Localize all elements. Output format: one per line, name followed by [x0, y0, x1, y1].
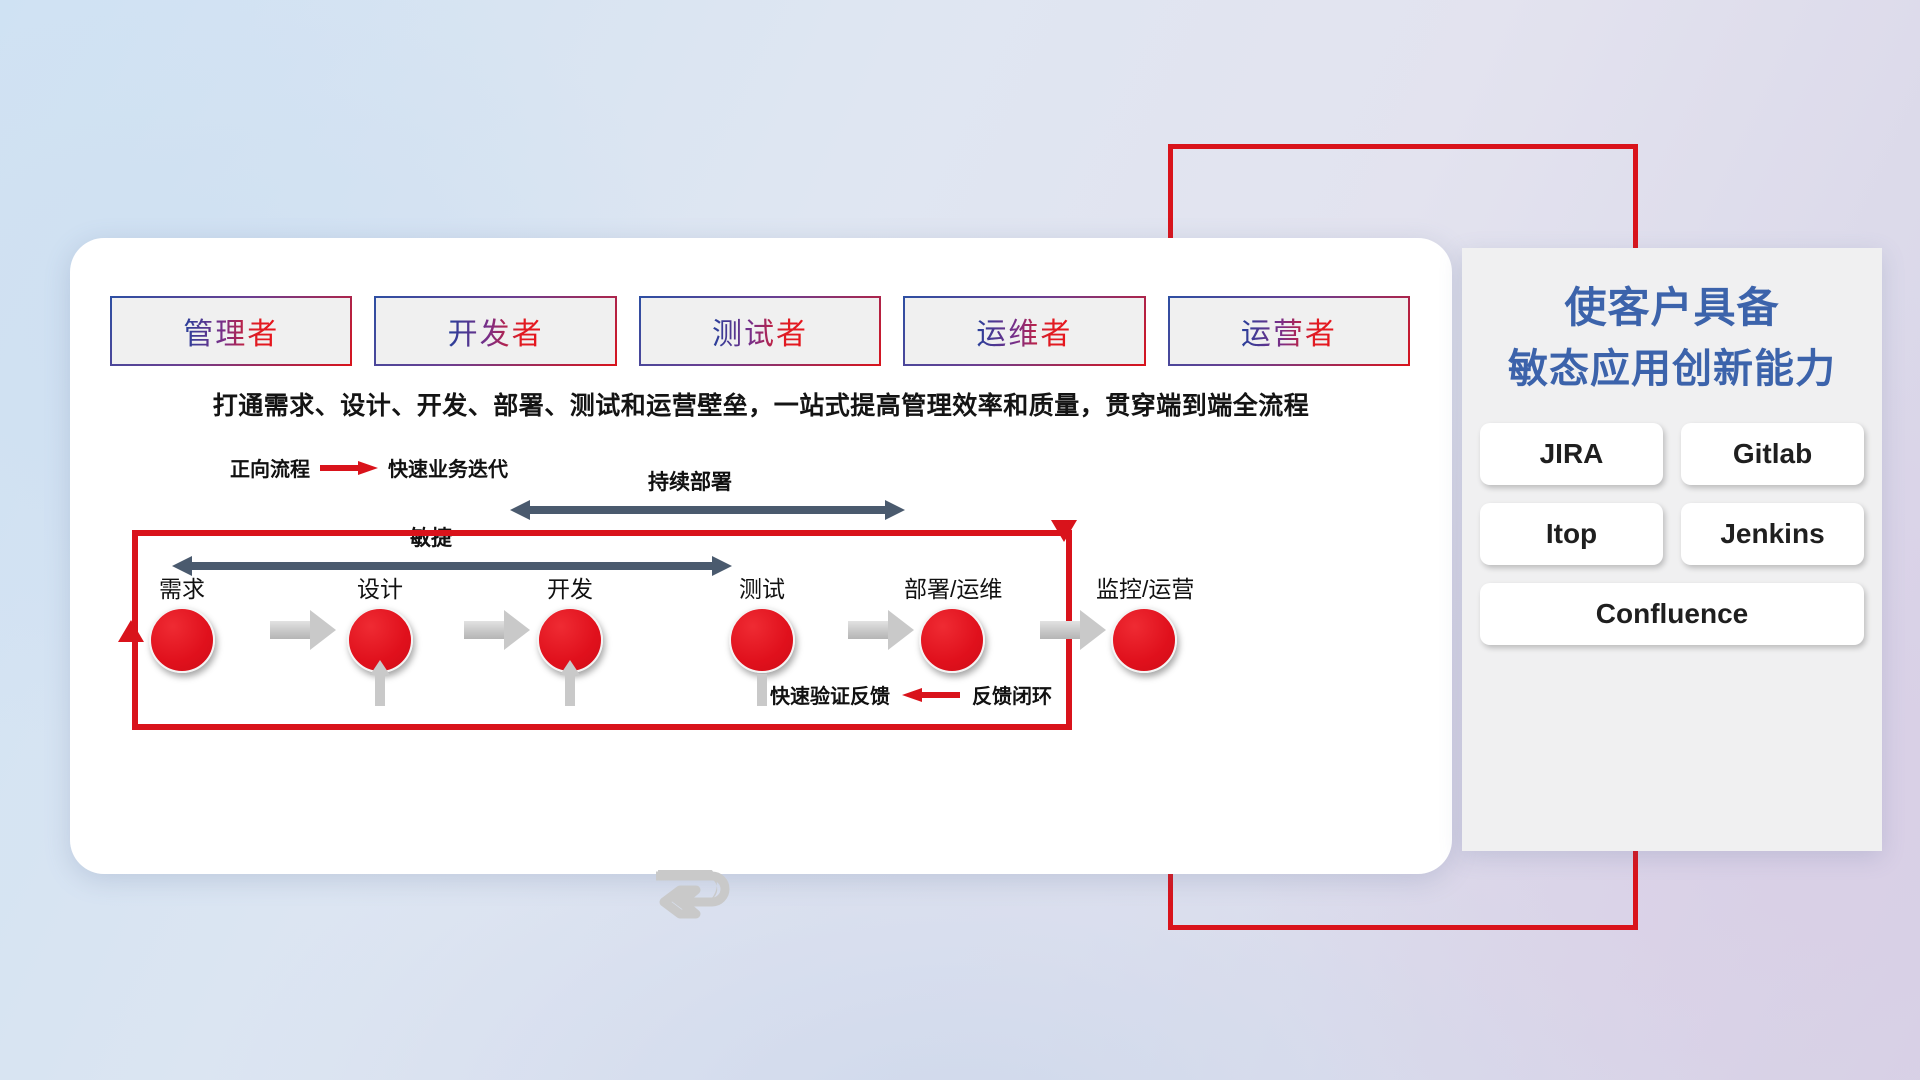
description-text: 打通需求、设计、开发、部署、测试和运营壁垒，一站式提高管理效率和质量，贯穿端到端… — [70, 386, 1452, 422]
right-panel: 使客户具备 敏态应用创新能力 JIRA Gitlab Itop Jenkins … — [1462, 248, 1882, 851]
feedback-tick-design-icon — [375, 674, 385, 706]
pipeline-stage-development[interactable]: 开发 — [522, 570, 618, 673]
arrow-tail — [1040, 621, 1080, 639]
tool-pill-jira[interactable]: JIRA — [1480, 423, 1663, 485]
arrow-tail — [270, 621, 310, 639]
arrow-tail — [464, 621, 504, 639]
tool-pill-gitlab[interactable]: Gitlab — [1681, 423, 1864, 485]
role-box-row: 管理者 开发者 测试者 运维者 运营者 — [110, 296, 1410, 366]
tool-pill-jenkins[interactable]: Jenkins — [1681, 503, 1864, 565]
arrow-head-right-icon — [885, 500, 905, 520]
main-card: 管理者 开发者 测试者 运维者 运营者 打通需求、设计、开发、部署、测试和运营壁… — [70, 238, 1452, 874]
role-label: 开发者 — [448, 309, 544, 353]
stage-label: 部署/运维 — [904, 570, 1000, 604]
pipeline-stage-design[interactable]: 设计 — [332, 570, 428, 673]
arrow-right-gray-icon — [270, 610, 336, 650]
role-box-operations[interactable]: 运营者 — [1168, 296, 1410, 366]
pipeline-stage-deploy-ops[interactable]: 部署/运维 — [904, 570, 1000, 673]
panel-title-line-2: 敏态应用创新能力 — [1462, 339, 1882, 399]
stage-label: 测试 — [714, 570, 810, 604]
arrow-right-red-icon — [320, 461, 378, 474]
tool-grid: JIRA Gitlab Itop Jenkins Confluence — [1480, 423, 1864, 645]
pipeline: 需求 设计 开发 — [92, 570, 1172, 700]
arrow-right-gray-icon — [464, 610, 530, 650]
feedback-tick-testing-icon — [757, 674, 767, 706]
stage-circle-icon — [919, 607, 985, 673]
stage-circle-icon — [1111, 607, 1177, 673]
stage-label: 监控/运营 — [1096, 570, 1192, 604]
stage-label: 需求 — [134, 570, 230, 604]
legend-forward-label: 正向流程 — [230, 453, 310, 482]
tool-pill-itop[interactable]: Itop — [1480, 503, 1663, 565]
role-box-tester[interactable]: 测试者 — [639, 296, 881, 366]
stage-label: 开发 — [522, 570, 618, 604]
feedback-tick-development-icon — [565, 674, 575, 706]
role-box-developer[interactable]: 开发者 — [374, 296, 616, 366]
role-label: 运营者 — [1241, 309, 1337, 353]
arrow-tail — [848, 621, 888, 639]
slide-canvas: 管理者 开发者 测试者 运维者 运营者 打通需求、设计、开发、部署、测试和运营壁… — [0, 0, 1920, 1080]
role-box-manager[interactable]: 管理者 — [110, 296, 352, 366]
panel-title-line-1: 使客户具备 — [1462, 276, 1882, 339]
pipeline-stage-testing[interactable]: 测试 — [714, 570, 810, 673]
red-loop-arrow-down-icon — [1051, 520, 1077, 542]
panel-title: 使客户具备 敏态应用创新能力 — [1462, 248, 1882, 399]
role-label: 管理者 — [183, 309, 279, 353]
tool-pill-confluence[interactable]: Confluence — [1480, 583, 1864, 645]
pipeline-stage-monitor-operations[interactable]: 监控/运营 — [1096, 570, 1192, 673]
stage-circle-icon — [149, 607, 215, 673]
arrow-bar — [528, 506, 887, 514]
legend-forward-result: 快速业务迭代 — [388, 453, 508, 482]
role-box-ops[interactable]: 运维者 — [903, 296, 1145, 366]
stage-label: 设计 — [332, 570, 428, 604]
stage-circle-icon — [729, 607, 795, 673]
role-label: 运维者 — [976, 309, 1072, 353]
pipeline-stage-requirement[interactable]: 需求 — [134, 570, 230, 673]
loop-back-arrow-icon — [652, 870, 738, 922]
arrow-head-left-icon — [510, 500, 530, 520]
double-arrow-continuous-deployment-icon — [510, 500, 905, 520]
span-label-continuous-deployment: 持续部署 — [648, 466, 732, 496]
role-label: 测试者 — [712, 309, 808, 353]
legend-forward-flow: 正向流程 快速业务迭代 — [230, 453, 508, 482]
